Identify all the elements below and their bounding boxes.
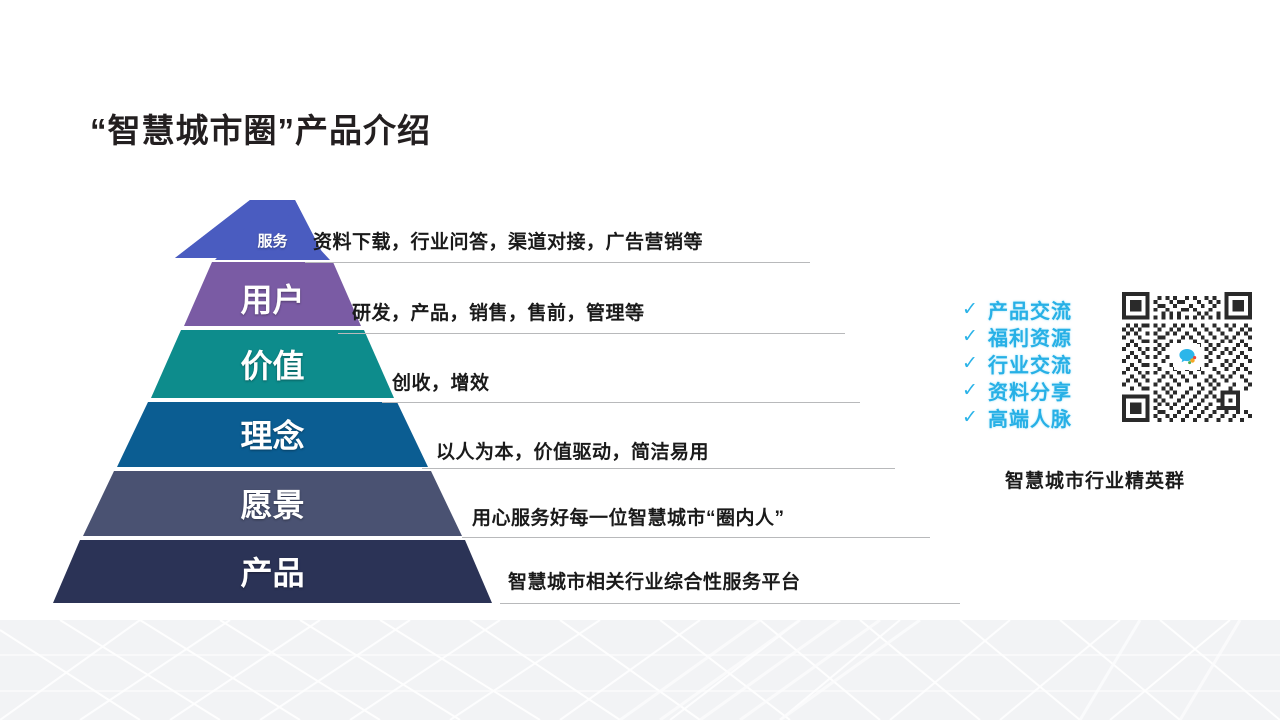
checklist-item-label: 资料分享 (988, 376, 1072, 405)
description-line-1: 资料下载，行业问答，渠道对接，广告营销等 (313, 227, 703, 254)
separator-line-6 (500, 603, 960, 604)
bottom-architecture-decoration (0, 620, 1280, 720)
description-line-6: 智慧城市相关行业综合性服务平台 (508, 567, 801, 594)
qr-caption: 智慧城市行业精英群 (1005, 466, 1185, 493)
pyramid-level-6-shape (53, 540, 492, 603)
page-title: “智慧城市圈”产品介绍 (90, 104, 431, 152)
description-line-4: 以人为本，价值驱动，简洁易用 (436, 437, 709, 464)
check-icon: ✓ (962, 300, 988, 319)
separator-line-4 (422, 468, 895, 469)
checklist-item: ✓ 行业交流 (962, 350, 1072, 377)
chat-bubble-logo-icon (1174, 344, 1200, 370)
pyramid-level-2-shape (184, 262, 361, 326)
checklist-item-label: 产品交流 (988, 295, 1072, 324)
separator-line-2 (338, 333, 845, 334)
qr-code[interactable] (1122, 292, 1252, 422)
pyramid-level-5-shape (83, 471, 462, 536)
separator-line-5 (462, 537, 930, 538)
checklist-item: ✓ 产品交流 (962, 296, 1072, 323)
description-line-2: 研发，产品，销售，售前，管理等 (352, 298, 645, 325)
description-line-5: 用心服务好每一位智慧城市“圈内人” (472, 503, 785, 530)
separator-line-1 (305, 262, 810, 263)
checklist-item: ✓ 福利资源 (962, 323, 1072, 350)
pyramid-level-4-shape (117, 402, 428, 467)
separator-line-3 (382, 402, 860, 403)
check-icon: ✓ (962, 327, 988, 346)
description-line-3: 创收，增效 (392, 368, 490, 395)
checklist-item-label: 行业交流 (988, 349, 1072, 378)
checklist-item-label: 福利资源 (988, 322, 1072, 351)
checklist-item: ✓ 高端人脉 (962, 404, 1072, 431)
check-icon: ✓ (962, 354, 988, 373)
pyramid-level-3-shape (151, 330, 394, 398)
slide-canvas: “智慧城市圈”产品介绍 服务 用户 价值 理念 愿景 产品 资料下载，行业 (0, 0, 1280, 720)
check-icon: ✓ (962, 408, 988, 427)
benefits-checklist: ✓ 产品交流 ✓ 福利资源 ✓ 行业交流 ✓ 资料分享 ✓ 高端人脉 (962, 296, 1072, 431)
checklist-item-label: 高端人脉 (988, 403, 1072, 432)
checklist-item: ✓ 资料分享 (962, 377, 1072, 404)
check-icon: ✓ (962, 381, 988, 400)
